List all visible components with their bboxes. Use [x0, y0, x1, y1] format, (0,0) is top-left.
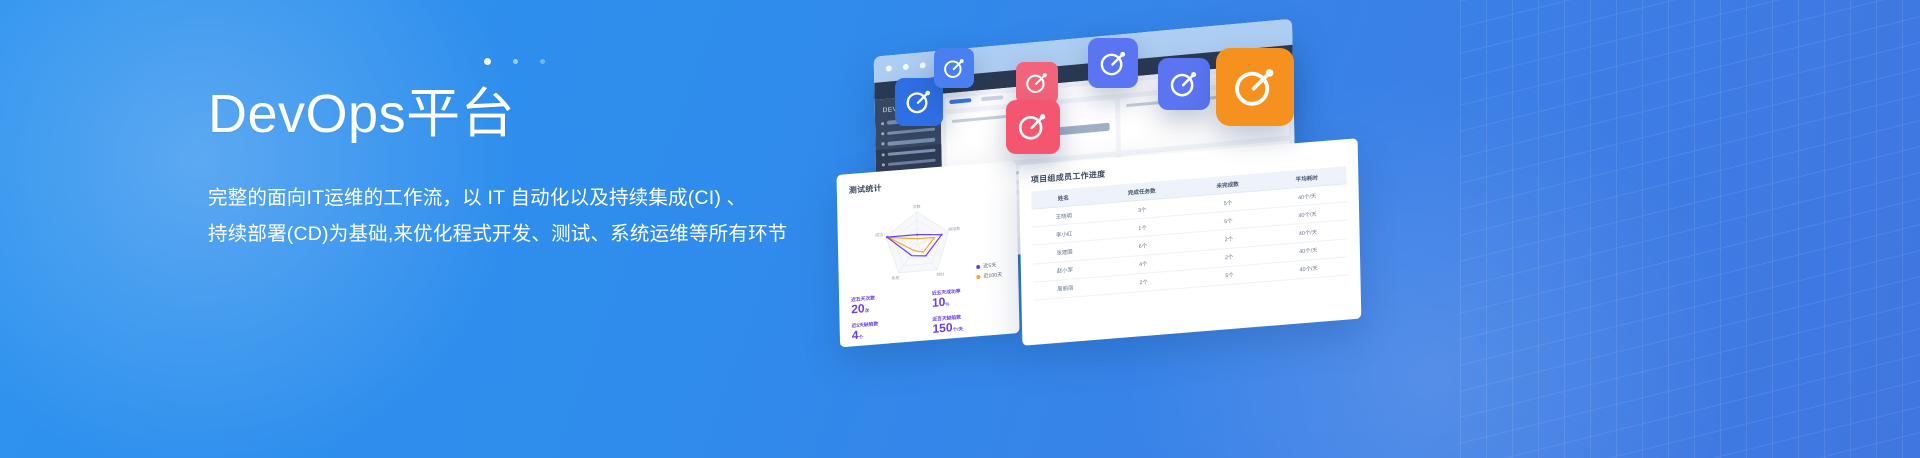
rocket-badge-pink-2[interactable] [1006, 100, 1060, 154]
rocket-icon [1168, 68, 1200, 100]
svg-text:次数: 次数 [913, 203, 921, 210]
rocket-badge-blue-2[interactable] [934, 48, 974, 88]
svg-text:失败: 失败 [892, 274, 900, 281]
member-progress-table: 姓名 完成任务数 未完成数 平均耗时 王晓明 3个 5个 40个/天 李小红 [1031, 166, 1348, 300]
rocket-icon [1231, 63, 1279, 111]
rocket-badge-pink-1[interactable] [1016, 62, 1058, 104]
rocket-icon [1016, 110, 1049, 143]
rocket-icon [942, 56, 967, 81]
radar-chart: 次数 缺陷数 耗时 失败 成功 近5天 近100天 [849, 188, 1006, 293]
legend-swatch-icon [976, 274, 980, 278]
member-progress-card: 项目组成员工作进度 姓名 完成任务数 未完成数 平均耗时 王晓明 3个 5个 [1019, 138, 1362, 346]
decorative-dots [484, 58, 545, 65]
svg-text:耗时: 耗时 [936, 270, 944, 277]
rocket-icon [1024, 70, 1050, 96]
dot-icon [540, 59, 545, 64]
tab-overview[interactable] [949, 98, 971, 104]
dashboard-mockup-stage: DEVOPS [820, 0, 1920, 458]
window-dot-icon [886, 65, 892, 72]
rocket-badge-indigo-1[interactable] [1088, 38, 1138, 88]
hero-subtitle-line-1: 完整的面向IT运维的工作流，以 IT 自动化以及持续集成(CI) 、 [208, 187, 746, 209]
rocket-badge-orange[interactable] [1216, 48, 1294, 126]
kpi-defects-5day: 近5天缺陷数 4个 [852, 316, 927, 344]
svg-text:成功: 成功 [875, 231, 883, 238]
window-dot-icon [920, 62, 926, 69]
legend-swatch-icon [976, 264, 980, 268]
window-dot-icon [903, 64, 909, 71]
dot-icon [513, 59, 518, 64]
bullet-icon [882, 153, 885, 156]
svg-text:缺陷数: 缺陷数 [948, 225, 960, 232]
rocket-icon [904, 87, 934, 117]
dot-icon [484, 58, 491, 65]
page-title: DevOps平台 [208, 84, 908, 144]
hero-subtitle: 完整的面向IT运维的工作流，以 IT 自动化以及持续集成(CI) 、 持续部署(… [208, 180, 908, 252]
bullet-icon [881, 132, 884, 135]
hero-copy: DevOps平台 完整的面向IT运维的工作流，以 IT 自动化以及持续集成(CI… [208, 84, 908, 252]
bullet-icon [881, 122, 884, 125]
bullet-icon [881, 143, 884, 146]
radar-legend: 近5天 近100天 [976, 258, 1002, 280]
tab-projects[interactable] [981, 95, 1003, 101]
test-statistics-card: 测试统计 [836, 161, 1019, 348]
rocket-badge-indigo-2[interactable] [1158, 58, 1210, 110]
devops-hero-banner: DevOps平台 完整的面向IT运维的工作流，以 IT 自动化以及持续集成(CI… [0, 0, 1920, 458]
radar-chart-svg: 次数 缺陷数 耗时 失败 成功 [849, 188, 1007, 297]
kpi-defects-100day: 近百天缺陷数 150个/天 [932, 310, 1007, 338]
legend-item-5day: 近5天 [976, 261, 1002, 270]
rocket-icon [1098, 48, 1129, 79]
hero-subtitle-line-2: 持续部署(CD)为基础,来优化程式开发、测试、系统运维等所有环节 [208, 216, 908, 252]
bullet-icon [882, 163, 885, 166]
